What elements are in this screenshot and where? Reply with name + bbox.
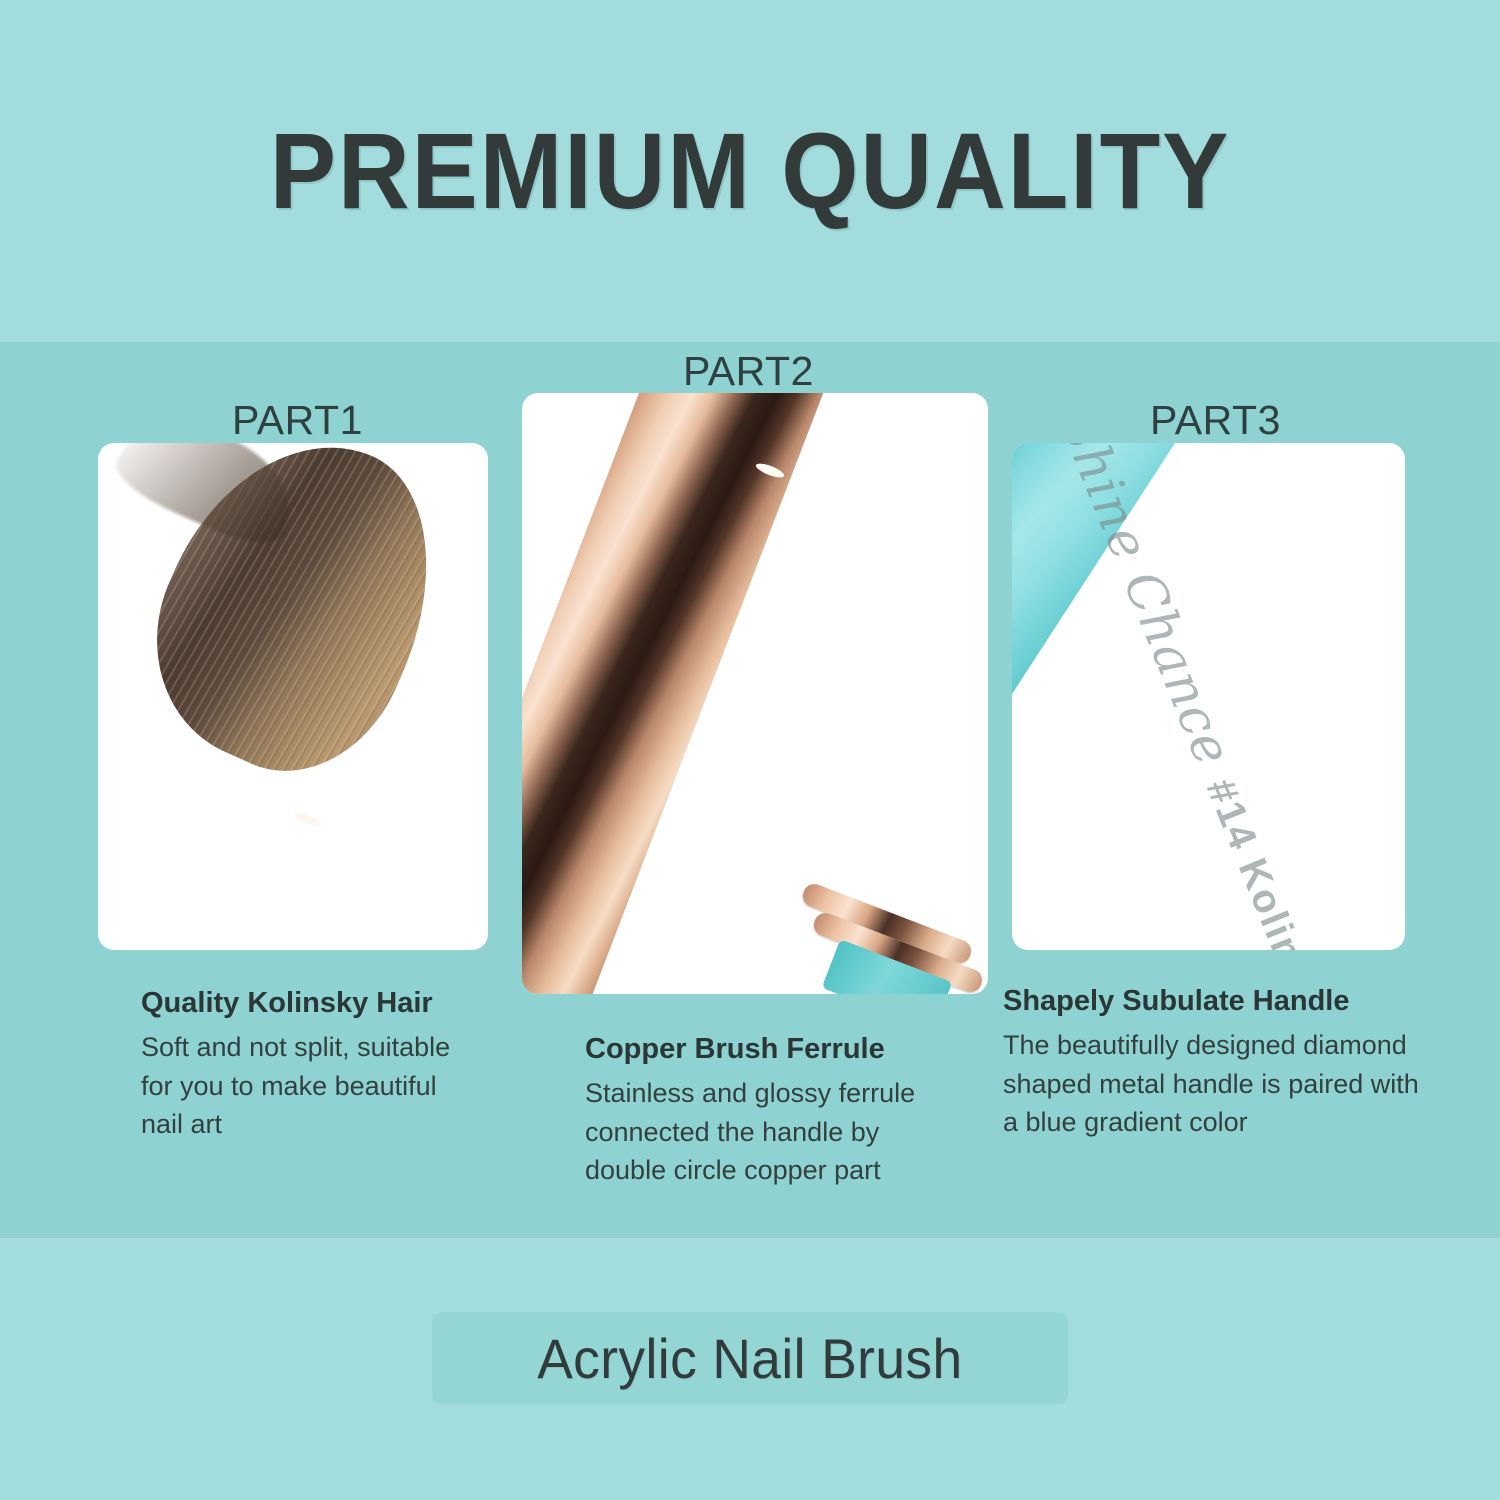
product-name-label: Acrylic Nail Brush <box>537 1326 962 1391</box>
infographic-page: PREMIUM QUALITY PART1 Quality Kolinsky H… <box>0 0 1500 1500</box>
product-photo-card-2 <box>522 393 988 994</box>
product-photo-card-1 <box>98 443 488 950</box>
part-label-2: PART2 <box>683 348 814 395</box>
ferrule-tube <box>522 393 838 994</box>
ferrule-metal <box>145 719 357 950</box>
caption-title-2: Copper Brush Ferrule <box>585 1033 935 1066</box>
model-engraving: #14 Kolinsky <box>1198 773 1339 950</box>
caption-text-3: The beautifully designed diamond shaped … <box>1003 1026 1433 1141</box>
part-label-3: PART3 <box>1150 397 1281 444</box>
caption-title-1: Quality Kolinsky Hair <box>141 987 471 1020</box>
caption-part-2: Copper Brush Ferrule Stainless and gloss… <box>585 1033 935 1189</box>
part-label-1: PART1 <box>232 397 363 444</box>
caption-text-1: Soft and not split, suitable for you to … <box>141 1028 471 1143</box>
ferrule-closeup-image <box>522 393 988 994</box>
product-photo-card-3: Shine Chance #14 Kolinsky <box>1012 443 1405 950</box>
page-title: PREMIUM QUALITY <box>60 112 1440 230</box>
caption-title-3: Shapely Subulate Handle <box>1003 985 1433 1018</box>
caption-part-1: Quality Kolinsky Hair Soft and not split… <box>141 987 471 1143</box>
caption-text-2: Stainless and glossy ferrule connected t… <box>585 1074 935 1189</box>
caption-part-3: Shapely Subulate Handle The beautifully … <box>1003 985 1433 1141</box>
product-name-badge: Acrylic Nail Brush <box>432 1312 1068 1404</box>
handle-body <box>1012 443 1220 950</box>
handle-closeup-image: Shine Chance #14 Kolinsky <box>1012 443 1405 950</box>
brush-head-image <box>98 443 488 950</box>
